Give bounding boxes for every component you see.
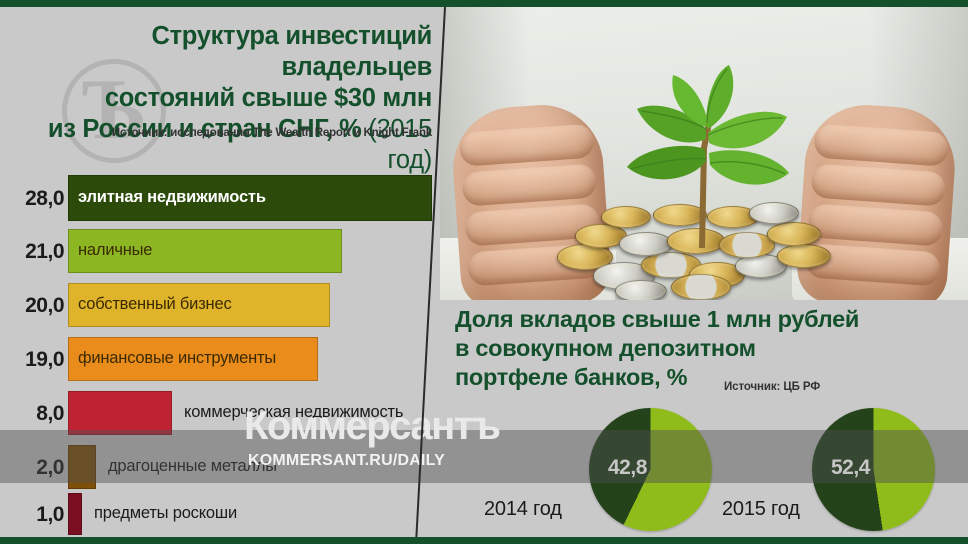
bar-value-label: 20,0 [6, 294, 64, 318]
bar-value-label: 19,0 [6, 348, 64, 372]
top-frame-bar [0, 0, 968, 7]
bar-category-label: финансовые инструменты [78, 349, 276, 368]
pie-year-label: 2015 год [722, 498, 800, 521]
page-title-line-1: Структура инвестиций владельцев [2, 21, 432, 83]
bottom-frame-bar [0, 537, 968, 544]
bar-row: 20,0собственный бизнес [0, 283, 442, 327]
plant-sprout-icon [589, 63, 819, 248]
bar-value-label: 21,0 [6, 240, 64, 264]
bar-value-label: 28,0 [6, 187, 64, 211]
bar-rect [68, 391, 172, 435]
bar-rect [68, 445, 96, 489]
page-title: Структура инвестиций владельцев состояни… [2, 21, 432, 176]
bar-row: 28,0элитная недвижимость [0, 175, 442, 221]
deposits-title-line-3: портфеле банков, % [455, 363, 925, 392]
bar-category-label: предметы роскоши [94, 504, 237, 523]
bar-value-label: 1,0 [6, 503, 64, 527]
infographic-canvas: Ъ Структура инвестиций владельцев состоя… [0, 0, 968, 544]
deposits-title-line-2: в совокупном депозитном [455, 334, 925, 363]
bar-value-label: 8,0 [6, 402, 64, 426]
bar-category-label: элитная недвижимость [78, 188, 266, 207]
page-title-line-3b: (2015 год) [361, 115, 432, 174]
photo-hands-coins-plant [440, 7, 968, 300]
pie-value-label: 52,4 [831, 456, 870, 480]
deposits-title: Доля вкладов свыше 1 млн рублей в совоку… [455, 305, 925, 392]
left-source-note: Источник: исследования The Wealth Report… [2, 127, 432, 139]
bar-rect [68, 493, 82, 535]
pie-value-label: 42,8 [608, 456, 647, 480]
kommersant-wordmark: Коммерсантъ [244, 404, 500, 449]
kommersant-url-watermark: KOMMERSANT.RU/DAILY [248, 452, 445, 470]
bar-row: 1,0предметы роскоши [0, 493, 442, 535]
bar-category-label: собственный бизнес [78, 295, 232, 314]
deposits-title-line-1: Доля вкладов свыше 1 млн рублей [455, 305, 925, 334]
bar-value-label: 2,0 [6, 456, 64, 480]
bar-chart: 28,0элитная недвижимость21,0наличные20,0… [0, 167, 442, 537]
page-title-line-2: состояний свыше $30 млн [2, 83, 432, 114]
deposits-source-note: Источник: ЦБ РФ [724, 381, 820, 393]
bar-row: 21,0наличные [0, 229, 442, 273]
bar-row: 19,0финансовые инструменты [0, 337, 442, 381]
bar-category-label: наличные [78, 241, 152, 260]
pie-year-label: 2014 год [484, 498, 562, 521]
